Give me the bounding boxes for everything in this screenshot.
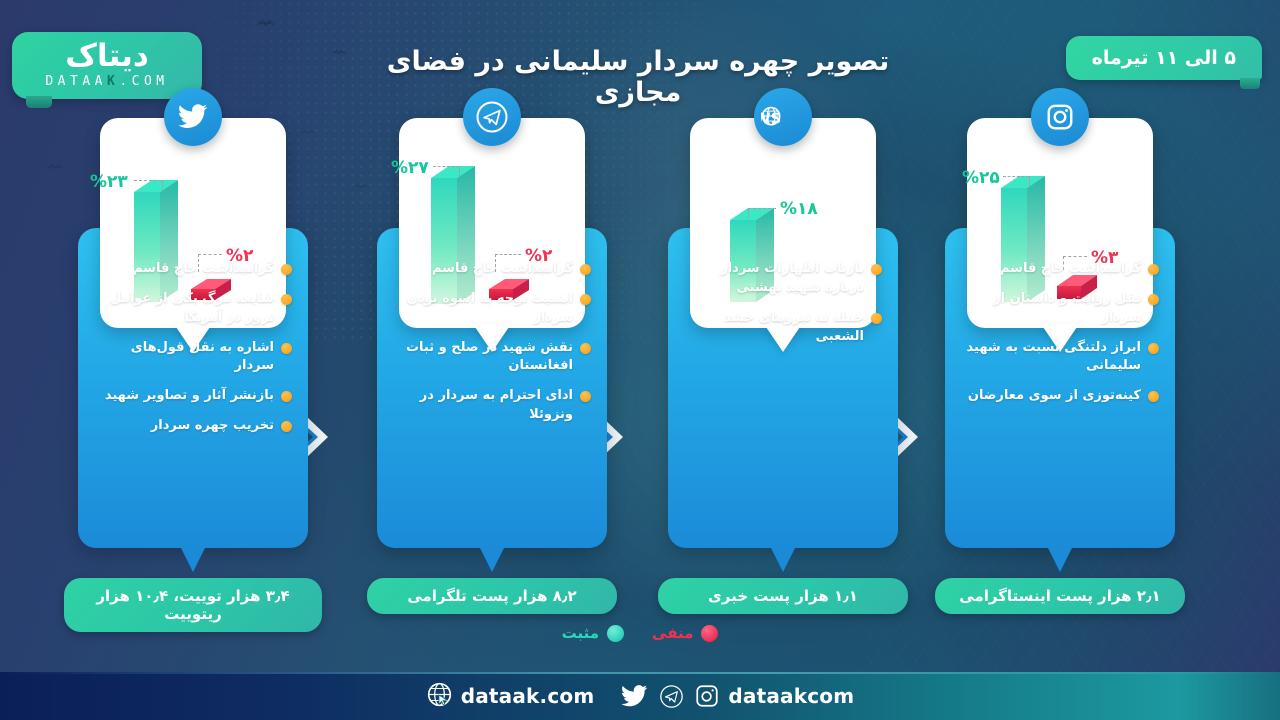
bullet-dot-icon (580, 391, 591, 402)
logo-pill: دیتاک DATAAK.COM (12, 32, 202, 99)
list-item: بازنشر آثار و تصاویر شهید (94, 387, 292, 406)
bullet-text: اشاره به نقل قول‌های سردار (94, 339, 274, 377)
list-item: اشاره به نقل قول‌های سردار (94, 339, 292, 377)
footer-handle-text: dataakcom (728, 684, 854, 708)
list-item: بازتاب اظهارات سردار درباره شهید بهشتی (684, 260, 882, 298)
list-item: گرامیداشت حاج قاسم (94, 260, 292, 279)
list-item: گرامیداشت حاج قاسم (961, 260, 1159, 279)
date-range-badge: ۵ الی ۱۱ تیرماه (1066, 36, 1262, 80)
bullet-text: گرامیداشت حاج قاسم (432, 260, 573, 279)
legend-item-negative: منفی (652, 624, 718, 642)
page-title: تصویر چهره سردار سلیمانی در فضای مجازی (358, 46, 918, 108)
positive-leader-line (748, 208, 776, 209)
legend-item-positive: مثبت (562, 624, 624, 642)
legend-label-negative: منفی (652, 624, 693, 642)
bullet-text: کینه‌توزی از سوی معارضان (968, 387, 1141, 406)
bullet-text: ابراز دلتنگی نسبت به شهید سلیمانی (961, 339, 1141, 377)
card-footer-badge: ۸٫۲ هزار پست تلگرامی (367, 578, 617, 614)
bullet-dot-icon (281, 391, 292, 402)
bullet-text: نقش شهید در صلح و ثبات افغانستان (393, 339, 573, 377)
footer-site-text: dataak.com (461, 684, 595, 708)
negative-leader-line (495, 254, 521, 255)
bullet-dot-icon (1148, 294, 1159, 305)
negative-leader-line (1063, 256, 1087, 257)
logo-ribbon-tail (26, 96, 52, 108)
bullet-text: بازنشر آثار و تصاویر شهید (105, 387, 274, 406)
bullet-text: شایعه مرگ یکی از عوامل ترور در آمریکا (94, 290, 274, 328)
list-item: نقل روایت و داستان از سردار (961, 290, 1159, 328)
list-item: اهمیت توجه به اسوه بودن سردار (393, 290, 591, 328)
panel-tail (479, 546, 505, 572)
chart-legend: منفی مثبت (0, 624, 1280, 642)
positive-percent-label: %۱۸ (780, 199, 818, 219)
bullet-dot-icon (281, 343, 292, 354)
positive-leader-drop (748, 208, 749, 218)
logo-en-suffix: .COM (119, 74, 168, 89)
twitter-icon[interactable] (620, 684, 649, 709)
bird-icon (255, 18, 277, 30)
bullet-text: اهمیت توجه به اسوه بودن سردار (393, 290, 573, 328)
bullet-dot-icon (1148, 264, 1159, 275)
panel-tail (180, 546, 206, 572)
legend-swatch-positive (607, 625, 624, 642)
footer-social-icons (620, 683, 720, 710)
bullet-dot-icon (871, 313, 882, 324)
positive-leader-line (433, 166, 459, 167)
bullet-text: حمله به نیروهای حشد الشعبی (684, 309, 864, 347)
bullet-dot-icon (1148, 391, 1159, 402)
list-item: نقش شهید در صلح و ثبات افغانستان (393, 339, 591, 377)
cards-row: %۲۵ %۳ (0, 118, 1280, 618)
bullet-dot-icon (580, 294, 591, 305)
panel-tail (1047, 546, 1073, 572)
bird-icon (330, 48, 348, 58)
bullet-dot-icon (281, 264, 292, 275)
positive-leader-drop (459, 166, 460, 176)
bullet-list: گرامیداشت حاج قاسم نقل روایت و داستان از… (945, 260, 1175, 417)
brand-logo[interactable]: دیتاک DATAAK.COM (12, 32, 202, 99)
instagram-icon[interactable] (1031, 88, 1089, 146)
bullet-list: گرامیداشت حاج قاسم اهمیت توجه به اسوه بو… (377, 260, 607, 436)
bullet-text: گرامیداشت حاج قاسم (133, 260, 274, 279)
bullet-dot-icon (580, 343, 591, 354)
telegram-icon[interactable] (463, 88, 521, 146)
positive-leader-drop (1029, 176, 1030, 186)
bullet-dot-icon (580, 264, 591, 275)
bullet-text: گرامیداشت حاج قاسم (1000, 260, 1141, 279)
bullet-text: ادای احترام به سردار در ونزوئلا (393, 387, 573, 425)
logo-text-en: DATAAK.COM (26, 74, 188, 89)
bullet-list: گرامیداشت حاج قاسم شایعه مرگ یکی از عوام… (78, 260, 308, 447)
positive-leader-line (134, 180, 162, 181)
bullet-dot-icon (281, 421, 292, 432)
list-item: حمله به نیروهای حشد الشعبی (684, 309, 882, 347)
bullet-dot-icon (1148, 343, 1159, 354)
logo-text-fa: دیتاک (26, 40, 188, 73)
bullet-text: بازتاب اظهارات سردار درباره شهید بهشتی (684, 260, 864, 298)
instagram-icon[interactable] (694, 683, 720, 709)
list-item: گرامیداشت حاج قاسم (393, 260, 591, 279)
list-item: کینه‌توزی از سوی معارضان (961, 387, 1159, 406)
logo-en-k: K (107, 74, 119, 89)
positive-leader-line (1003, 176, 1029, 177)
list-item: ادای احترام به سردار در ونزوئلا (393, 387, 591, 425)
footer-bar: dataak.com (0, 672, 1280, 720)
positive-leader-drop (162, 180, 163, 190)
twitter-icon[interactable] (164, 88, 222, 146)
card-footer-badge: ۱٫۱ هزار پست خبری (658, 578, 908, 614)
card-footer-badge: ۲٫۱ هزار پست اینستاگرامی (935, 578, 1185, 614)
panel-tail (770, 546, 796, 572)
globe-icon (426, 681, 453, 712)
positive-percent-label: %۲۷ (391, 158, 429, 178)
footer-social[interactable]: dataakcom (620, 683, 854, 710)
positive-percent-label: %۲۳ (90, 172, 128, 192)
bullet-dot-icon (871, 264, 882, 275)
legend-label-positive: مثبت (562, 624, 599, 642)
positive-percent-label: %۲۵ (962, 168, 1000, 188)
bullet-text: نقل روایت و داستان از سردار (961, 290, 1141, 328)
footer-website[interactable]: dataak.com (426, 681, 595, 712)
news-icon[interactable]: NEWS (754, 88, 812, 146)
legend-swatch-negative (701, 625, 718, 642)
list-item: شایعه مرگ یکی از عوامل ترور در آمریکا (94, 290, 292, 328)
list-item: تخریب چهره سردار (94, 417, 292, 436)
bullet-text: تخریب چهره سردار (151, 417, 274, 436)
bullet-list: بازتاب اظهارات سردار درباره شهید بهشتی ح… (668, 260, 898, 357)
telegram-icon[interactable] (658, 683, 685, 710)
bullet-dot-icon (281, 294, 292, 305)
infographic-canvas: دیتاک DATAAK.COM تصویر چهره سردار سلیمان… (0, 0, 1280, 720)
logo-en-prefix: DATAA (45, 74, 107, 89)
list-item: ابراز دلتنگی نسبت به شهید سلیمانی (961, 339, 1159, 377)
svg-text:NEWS: NEWS (761, 110, 781, 127)
negative-leader-line (198, 254, 222, 255)
